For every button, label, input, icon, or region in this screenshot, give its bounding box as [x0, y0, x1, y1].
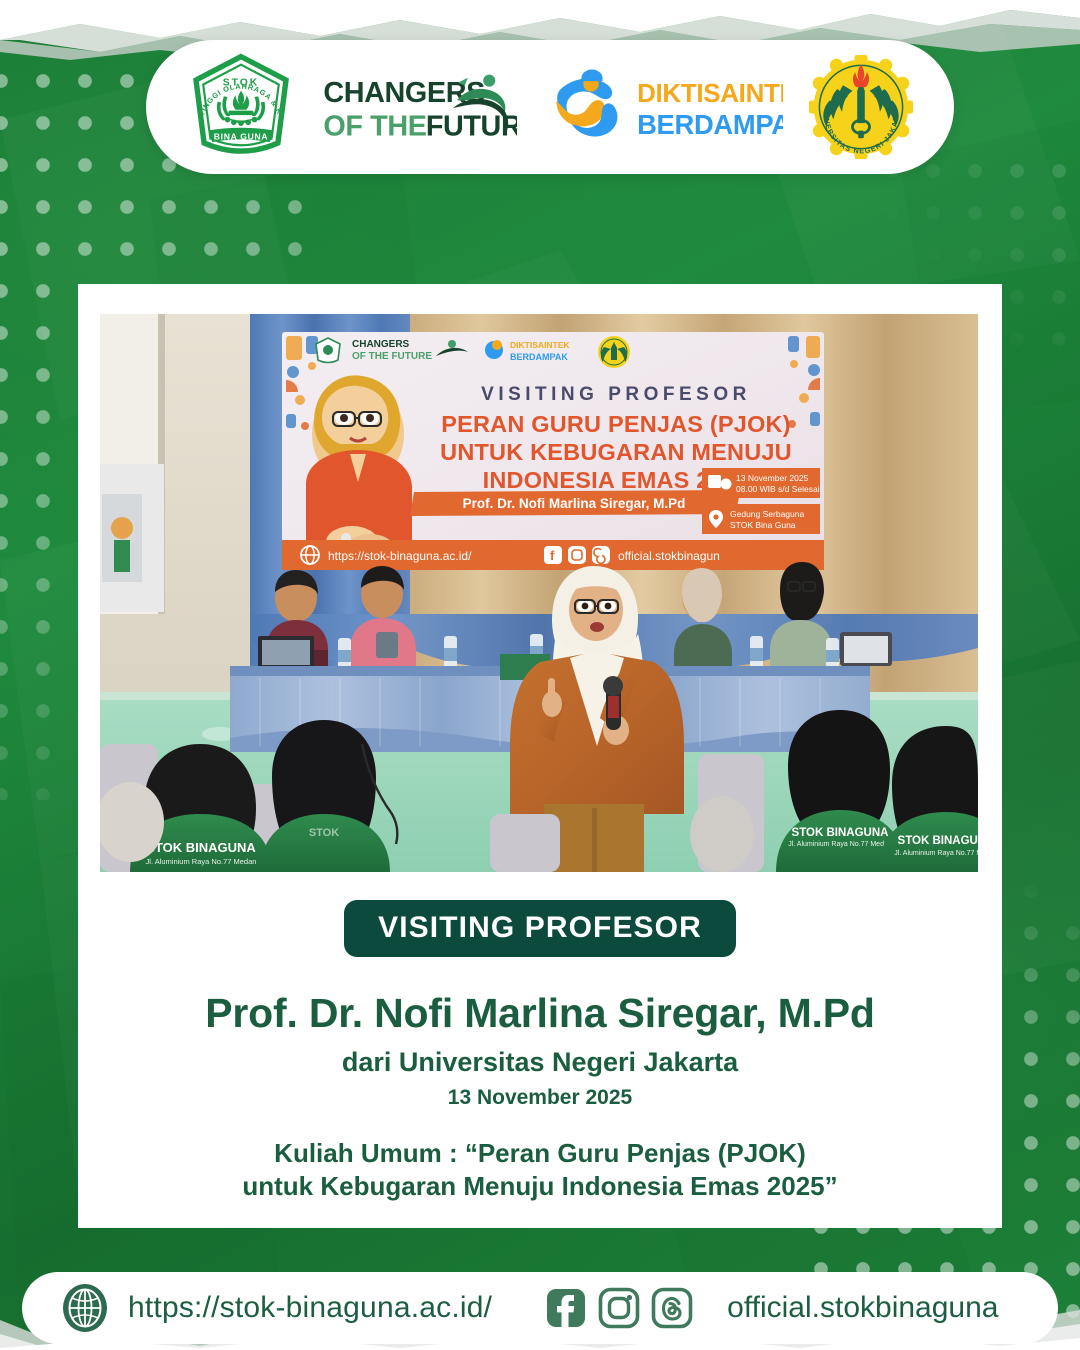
poster-canvas: SEKOLAH TINGGI OLAHRAGA & KESEHATAN STOK	[0, 0, 1080, 1350]
threads-icon[interactable]	[650, 1286, 694, 1330]
social-handle[interactable]: official.stokbinaguna	[727, 1291, 998, 1325]
changers-of-the-future-logo: CHANGERS OF THE FUTURE	[321, 67, 517, 147]
svg-text:STOK Bina Guna: STOK Bina Guna	[730, 520, 796, 530]
svg-text:VISITING PROFESOR: VISITING PROFESOR	[481, 384, 751, 405]
svg-text:STOK BINAGUNA: STOK BINAGUNA	[898, 835, 978, 847]
event-date: 13 November 2025	[78, 1086, 1002, 1110]
svg-text:DIKTISAINTEK: DIKTISAINTEK	[637, 80, 783, 108]
svg-text:STOK BINAGUNA: STOK BINAGUNA	[792, 827, 889, 839]
header-logo-bar: SEKOLAH TINGGI OLAHRAGA & KESEHATAN STOK	[146, 40, 954, 174]
svg-text:Gedung Serbaguna: Gedung Serbaguna	[730, 509, 804, 519]
lecture-topic-line-1: Kuliah Umum : “Peran Guru Penjas (PJOK)	[78, 1137, 1002, 1170]
announcement-text-block: VISITING PROFESOR Prof. Dr. Nofi Marlina…	[78, 900, 1002, 1204]
svg-text:CHANGERS: CHANGERS	[352, 339, 410, 350]
svg-text:STOK: STOK	[309, 827, 339, 839]
lecture-topic: Kuliah Umum : “Peran Guru Penjas (PJOK) …	[78, 1137, 1002, 1204]
svg-text:official.stokbinagun: official.stokbinagun	[618, 549, 720, 563]
svg-text:STOK: STOK	[223, 77, 259, 88]
diktisaintek-berdampak-logo: DIKTISAINTEK BERDAMPAK	[543, 64, 783, 150]
visiting-profesor-badge: VISITING PROFESOR	[344, 900, 736, 957]
instagram-icon[interactable]	[597, 1286, 641, 1330]
svg-text:BINA GUNA: BINA GUNA	[214, 131, 269, 141]
svg-text:13 November 2025: 13 November 2025	[736, 473, 809, 483]
svg-text:DIKTISAINTEK: DIKTISAINTEK	[510, 340, 570, 350]
svg-text:08.00 WIB s/d Selesai: 08.00 WIB s/d Selesai	[736, 484, 820, 494]
svg-text:Jl. Aluminium Raya No.77 Medan: Jl. Aluminium Raya No.77 Medan	[788, 841, 892, 848]
event-photo: CHANGERS OF THE FUTURE DIKTISAINTEK BERD…	[100, 314, 978, 872]
svg-text:Jl. Aluminium Raya No.77 Medan: Jl. Aluminium Raya No.77 Medan	[894, 850, 978, 857]
website-url[interactable]: https://stok-binaguna.ac.id/	[128, 1291, 492, 1325]
svg-text:f: f	[550, 548, 555, 563]
svg-text:Jl. Aluminium Raya No.77 Medan: Jl. Aluminium Raya No.77 Medan	[146, 857, 257, 866]
globe-icon	[60, 1283, 110, 1333]
svg-text:https://stok-binaguna.ac.id/: https://stok-binaguna.ac.id/	[328, 549, 472, 563]
stok-bina-guna-logo: SEKOLAH TINGGI OLAHRAGA & KESEHATAN STOK	[187, 53, 295, 161]
svg-text:OF THE FUTURE: OF THE FUTURE	[352, 351, 432, 362]
svg-text:UNTUK KEBUGARAN MENUJU: UNTUK KEBUGARAN MENUJU	[440, 439, 792, 465]
svg-text:BERDAMPAK: BERDAMPAK	[637, 109, 783, 140]
svg-text:STOK BINAGUNA: STOK BINAGUNA	[146, 840, 256, 855]
speaker-affiliation: dari Universitas Negeri Jakarta	[78, 1047, 1002, 1078]
social-icon-group	[544, 1286, 694, 1330]
svg-text:PERAN GURU PENJAS (PJOK): PERAN GURU PENJAS (PJOK)	[441, 411, 791, 437]
svg-text:BERDAMPAK: BERDAMPAK	[510, 352, 568, 362]
footer-contact-bar: https://stok-binaguna.ac.id/	[22, 1272, 1058, 1344]
svg-text:Prof. Dr. Nofi Marlina Siregar: Prof. Dr. Nofi Marlina Siregar, M.Pd	[463, 496, 686, 511]
lecture-topic-line-2: untuk Kebugaran Menuju Indonesia Emas 20…	[78, 1170, 1002, 1203]
universitas-negeri-jakarta-logo: UNIVERSITAS NEGERI JAKARTA	[809, 55, 913, 159]
facebook-icon[interactable]	[544, 1286, 588, 1330]
svg-text:OF THE: OF THE	[323, 110, 426, 142]
speaker-name: Prof. Dr. Nofi Marlina Siregar, M.Pd	[78, 991, 1002, 1036]
